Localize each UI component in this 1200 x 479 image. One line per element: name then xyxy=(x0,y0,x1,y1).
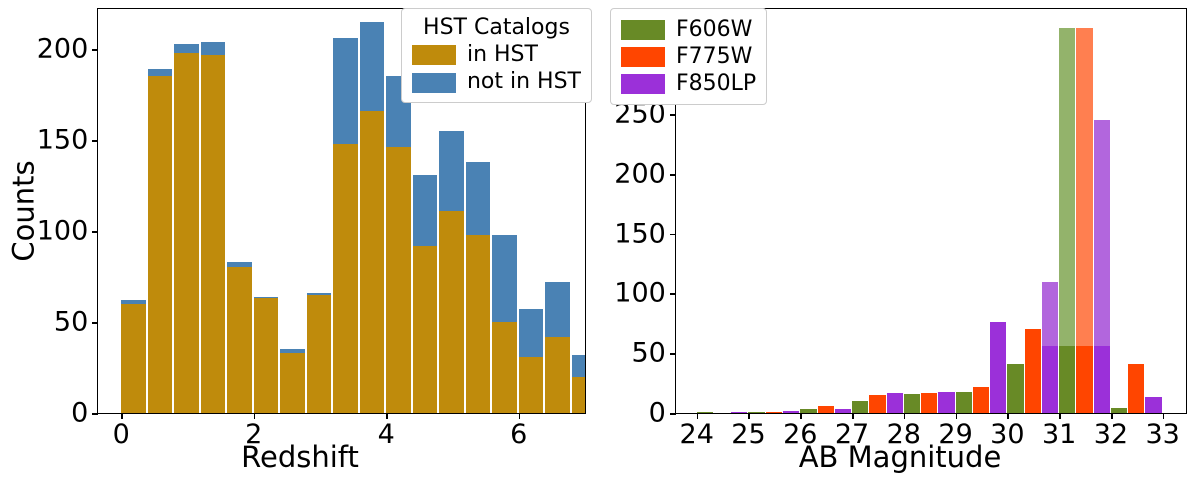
bar-segment-in-hst xyxy=(545,337,570,413)
y-tick-mark xyxy=(92,231,98,233)
bar-segment-not-in-hst xyxy=(413,175,438,246)
histogram-bar-f606w xyxy=(1059,346,1075,413)
bar-segment-not-in-hst xyxy=(466,162,491,235)
histogram-bar-f775w xyxy=(869,395,885,413)
histogram-bar-overlay-f606w-tall xyxy=(1059,28,1075,346)
histogram-bar-f606w xyxy=(852,401,868,413)
histogram-bar-f775w xyxy=(1076,28,1092,413)
y-tick-mark xyxy=(92,49,98,51)
y-tick-mark xyxy=(92,140,98,142)
histogram-bar-f850lp xyxy=(835,409,851,413)
histogram-bar xyxy=(492,235,517,413)
bar-segment-not-in-hst xyxy=(227,262,252,267)
histogram-bar xyxy=(439,131,464,413)
legend-filters[interactable]: F606W F775W F850LP xyxy=(610,8,767,105)
histogram-bar-f606w xyxy=(1007,364,1023,413)
histogram-bar xyxy=(280,349,305,413)
histogram-bar xyxy=(148,69,173,413)
bar-segment-in-hst xyxy=(466,235,491,413)
histogram-bar xyxy=(386,76,411,413)
bar-segment-in-hst xyxy=(148,76,173,413)
y-tick-label: 0 xyxy=(71,400,88,427)
histogram-bar xyxy=(413,175,438,413)
x-axis-label-redshift: Redshift xyxy=(0,443,600,472)
y-tick-mark xyxy=(670,114,676,116)
bar-segment-in-hst xyxy=(174,53,199,413)
legend-title: HST Catalogs xyxy=(412,15,581,40)
histogram-bar xyxy=(519,309,544,413)
bar-segment-not-in-hst xyxy=(519,309,544,356)
bar-segment-in-hst xyxy=(280,353,305,413)
histogram-bar xyxy=(360,22,385,413)
histogram-bar-f775w xyxy=(766,412,782,413)
panel-ab-magnitude-histogram: 050100150200250300 24252627282930313233 … xyxy=(600,0,1200,479)
bar-segment-not-in-hst xyxy=(439,131,464,211)
histogram-bar xyxy=(466,162,491,413)
histogram-bar-f850lp xyxy=(731,412,747,413)
legend-item-not-in-hst[interactable]: not in HST xyxy=(412,70,581,94)
histogram-bar-f606w xyxy=(1111,408,1127,413)
y-tick-mark xyxy=(670,413,676,415)
legend-item-in-hst[interactable]: in HST xyxy=(412,43,581,67)
histogram-bar xyxy=(121,300,146,413)
y-tick-mark xyxy=(92,322,98,324)
histogram-bar xyxy=(572,355,585,413)
bar-segment-not-in-hst xyxy=(148,69,173,76)
y-tick-mark xyxy=(92,413,98,415)
histogram-bar xyxy=(174,44,199,413)
bar-segment-not-in-hst xyxy=(307,293,332,295)
histogram-bar-f606w xyxy=(956,392,972,414)
legend-item-f850lp[interactable]: F850LP xyxy=(621,72,756,96)
legend-item-f775w[interactable]: F775W xyxy=(621,45,756,69)
bar-segment-not-in-hst xyxy=(254,297,279,299)
y-tick-label: 50 xyxy=(54,309,88,336)
legend-label-f775w: F775W xyxy=(676,45,752,69)
legend-swatch-f850lp xyxy=(621,74,665,94)
bar-segment-in-hst xyxy=(201,55,226,414)
y-tick-mark xyxy=(670,353,676,355)
bar-segment-in-hst xyxy=(519,357,544,413)
histogram-bar-f606w xyxy=(748,412,764,413)
histogram-bar-f850lp xyxy=(1145,397,1161,413)
bar-segment-in-hst xyxy=(572,377,585,413)
bar-segment-in-hst xyxy=(413,246,438,413)
panel-redshift-histogram: Counts 050100150200 0246 Redshift HST Ca… xyxy=(0,0,600,479)
histogram-bar-f606w xyxy=(800,409,816,413)
bar-segment-in-hst xyxy=(386,147,411,413)
legend-label-f606w: F606W xyxy=(676,18,752,42)
histogram-bar-f850lp xyxy=(1094,120,1110,413)
bar-segment-not-in-hst xyxy=(360,22,385,111)
y-tick-label: 0 xyxy=(649,400,666,427)
histogram-bar-f850lp xyxy=(938,392,954,414)
y-tick-label: 100 xyxy=(37,218,89,245)
histogram-bar xyxy=(254,297,279,413)
histogram-bar-f775w xyxy=(818,406,834,413)
y-tick-label: 50 xyxy=(631,340,665,367)
bar-segment-in-hst xyxy=(333,144,358,413)
histogram-bar-f850lp xyxy=(887,393,903,413)
legend-swatch-f606w xyxy=(621,20,665,40)
histogram-bar xyxy=(333,38,358,413)
histogram-bar xyxy=(201,42,226,413)
bar-segment-not-in-hst xyxy=(492,235,517,322)
histogram-bar-f775w xyxy=(921,393,937,413)
legend-swatch-f775w xyxy=(621,47,665,67)
legend-label-in-hst: in HST xyxy=(467,43,538,67)
histogram-bar-f775w xyxy=(1025,329,1041,413)
y-tick-mark xyxy=(670,234,676,236)
legend-label-not-in-hst: not in HST xyxy=(467,70,581,94)
histogram-bar xyxy=(545,282,570,413)
bar-segment-not-in-hst xyxy=(174,44,199,53)
bar-segment-in-hst xyxy=(121,304,146,413)
bar-segment-not-in-hst xyxy=(333,38,358,144)
histogram-bar-f606w xyxy=(904,394,920,413)
x-axis-label-ab-magnitude: AB Magnitude xyxy=(600,443,1200,472)
legend-hst-catalogs[interactable]: HST Catalogs in HST not in HST xyxy=(401,8,592,103)
histogram-bar-f775w xyxy=(973,387,989,413)
legend-swatch-in-hst xyxy=(412,45,456,65)
bar-segment-in-hst xyxy=(254,298,279,413)
bar-segment-in-hst xyxy=(360,111,385,413)
bar-segment-not-in-hst xyxy=(121,300,146,304)
legend-swatch-not-in-hst xyxy=(412,73,456,93)
y-axis-label-counts: Counts xyxy=(10,160,39,261)
legend-item-f606w[interactable]: F606W xyxy=(621,18,756,42)
legend-label-f850lp: F850LP xyxy=(676,72,756,96)
y-tick-label: 200 xyxy=(614,160,666,187)
histogram-bar xyxy=(307,293,332,413)
y-tick-label: 200 xyxy=(37,36,89,63)
y-tick-label: 250 xyxy=(614,101,666,128)
bar-segment-in-hst xyxy=(492,322,517,413)
y-tick-mark xyxy=(670,293,676,295)
bar-segment-in-hst xyxy=(227,267,252,413)
y-tick-mark xyxy=(670,174,676,176)
histogram-bar-f775w xyxy=(1128,364,1144,413)
histogram-bar xyxy=(227,262,252,413)
bar-segment-not-in-hst xyxy=(201,42,226,55)
histogram-bar-f850lp xyxy=(990,322,1006,413)
bar-segment-not-in-hst xyxy=(280,349,305,353)
y-tick-label: 150 xyxy=(37,127,89,154)
histogram-bar-f850lp xyxy=(783,411,799,413)
histogram-bar-f850lp xyxy=(1042,282,1058,413)
bar-segment-in-hst xyxy=(439,211,464,413)
bar-segment-in-hst xyxy=(307,295,332,413)
y-tick-label: 150 xyxy=(614,220,666,247)
bar-segment-not-in-hst xyxy=(572,355,585,377)
figure-canvas: Counts 050100150200 0246 Redshift HST Ca… xyxy=(0,0,1200,479)
y-tick-label: 100 xyxy=(614,280,666,307)
histogram-bar-f606w xyxy=(697,412,713,413)
bar-segment-not-in-hst xyxy=(545,282,570,337)
